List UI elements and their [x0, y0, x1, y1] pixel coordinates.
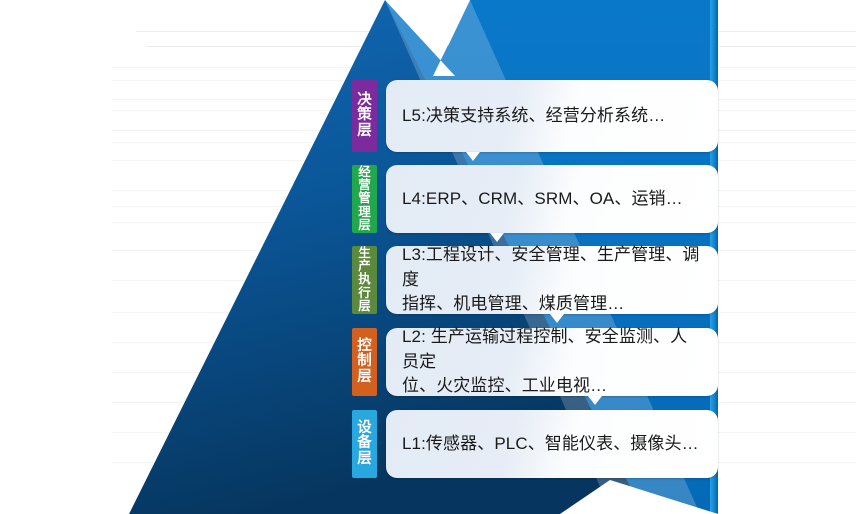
layer-tab-char: 备 — [357, 436, 372, 451]
layer-row-l2[interactable]: 控 制 层 L2: 生产运输过程控制、安全监测、人员定 位、火灾监控、工业电视… — [352, 328, 718, 396]
layer-tab-char: 层 — [357, 452, 372, 467]
layer-tab-l3[interactable]: 生 产 执 行 层 — [352, 246, 377, 314]
layer-card-l4[interactable]: L4:ERP、CRM、SRM、OA、运销… — [386, 165, 718, 233]
layer-tab-char: 层 — [358, 219, 371, 232]
layer-tab-char: 行 — [358, 287, 371, 300]
pyramid-diagram-canvas: 决 策 层 L5:决策支持系统、经营分析系统… 经 营 管 理 层 L4:ERP… — [0, 0, 856, 514]
layer-tab-char: 管 — [358, 192, 371, 205]
layer-card-text-l5: L5:决策支持系统、经营分析系统… — [402, 104, 665, 129]
layer-row-l3[interactable]: 生 产 执 行 层 L3:工程设计、安全管理、生产管理、调度 指挥、机电管理、煤… — [352, 246, 718, 314]
layer-row-l4[interactable]: 经 营 管 理 层 L4:ERP、CRM、SRM、OA、运销… — [352, 165, 718, 233]
layer-card-text-l2: L2: 生产运输过程控制、安全监测、人员定 位、火灾监控、工业电视… — [402, 325, 704, 399]
layer-card-text-l4: L4:ERP、CRM、SRM、OA、运销… — [402, 187, 683, 212]
layer-card-l1[interactable]: L1:传感器、PLC、智能仪表、摄像头… — [386, 410, 718, 478]
layer-tab-char: 层 — [357, 124, 372, 139]
layer-row-l5[interactable]: 决 策 层 L5:决策支持系统、经营分析系统… — [352, 80, 718, 152]
connector-arrow-l5-l4 — [466, 152, 480, 161]
connector-arrow-l3-l2 — [550, 314, 564, 323]
layer-card-l3[interactable]: L3:工程设计、安全管理、生产管理、调度 指挥、机电管理、煤质管理… — [386, 246, 718, 314]
layer-tab-char: 设 — [357, 421, 372, 436]
layer-tab-char: 层 — [358, 300, 371, 313]
layer-tab-char: 策 — [357, 108, 372, 123]
layer-stack: 决 策 层 L5:决策支持系统、经营分析系统… 经 营 管 理 层 L4:ERP… — [0, 0, 856, 514]
layer-card-line: L2: 生产运输过程控制、安全监测、人员定 — [402, 325, 704, 374]
layer-tab-l4[interactable]: 经 营 管 理 层 — [352, 165, 377, 233]
layer-tab-l2[interactable]: 控 制 层 — [352, 328, 377, 396]
layer-card-line: 位、火灾监控、工业电视… — [402, 374, 704, 399]
layer-tab-char: 制 — [357, 354, 372, 369]
layer-card-text-l1: L1:传感器、PLC、智能仪表、摄像头… — [402, 432, 699, 457]
layer-tab-l1[interactable]: 设 备 层 — [352, 410, 377, 478]
layer-card-text-l3: L3:工程设计、安全管理、生产管理、调度 指挥、机电管理、煤质管理… — [402, 243, 704, 317]
layer-tab-l5[interactable]: 决 策 层 — [352, 80, 377, 152]
layer-card-l5[interactable]: L5:决策支持系统、经营分析系统… — [386, 80, 718, 152]
connector-arrow-l4-l3 — [490, 233, 504, 242]
layer-tab-char: 决 — [357, 93, 372, 108]
layer-card-line: L3:工程设计、安全管理、生产管理、调度 — [402, 243, 704, 292]
layer-tab-char: 理 — [358, 206, 371, 219]
connector-arrow-l2-l1 — [588, 396, 602, 405]
layer-tab-char: 层 — [357, 370, 372, 385]
layer-tab-char: 执 — [358, 273, 371, 286]
layer-card-l2[interactable]: L2: 生产运输过程控制、安全监测、人员定 位、火灾监控、工业电视… — [386, 328, 718, 396]
layer-tab-char: 控 — [357, 339, 372, 354]
layer-row-l1[interactable]: 设 备 层 L1:传感器、PLC、智能仪表、摄像头… — [352, 410, 718, 478]
